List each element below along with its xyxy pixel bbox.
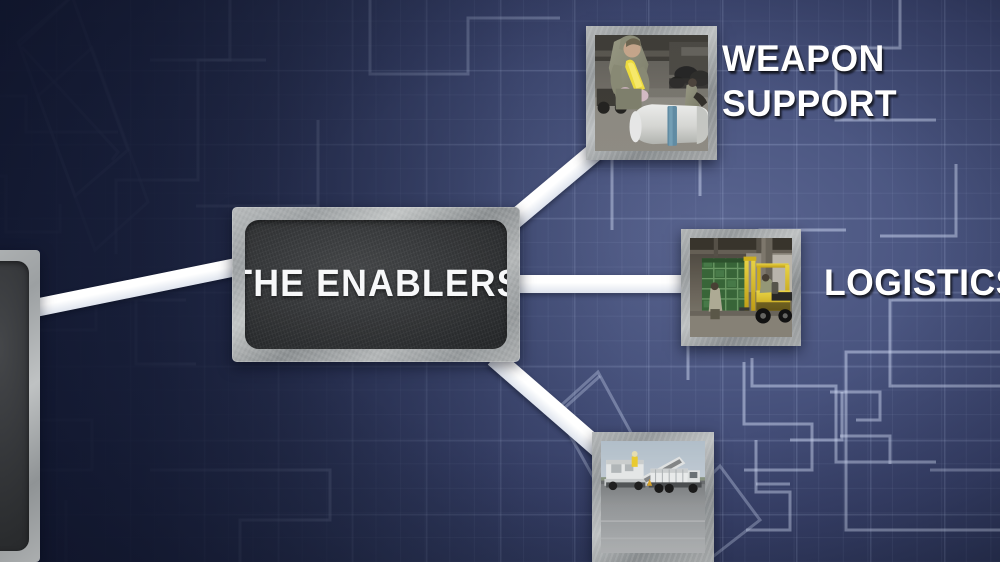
offscreen-panel-left[interactable] (0, 250, 40, 562)
slide-canvas: THE ENABLERS WEAPON SUPPORT LOGISTICS (0, 0, 1000, 562)
photo-civil-engineering[interactable] (592, 432, 714, 562)
the-enablers-panel[interactable]: THE ENABLERS (232, 207, 520, 362)
offscreen-panel-left-inner (0, 261, 29, 551)
photo-weapon-support-image (595, 35, 708, 151)
connector-to-logistics (508, 275, 698, 293)
photo-logistics-image (690, 238, 792, 337)
photo-logistics[interactable] (681, 229, 801, 346)
the-enablers-title: THE ENABLERS (245, 263, 507, 306)
photo-civil-engineering-image (601, 441, 705, 553)
the-enablers-panel-inner: THE ENABLERS (245, 220, 507, 349)
label-weapon-support-line1: WEAPON (722, 36, 897, 81)
label-weapon-support-line2: SUPPORT (722, 81, 897, 126)
label-logistics-line1: LOGISTICS (824, 260, 1000, 305)
label-logistics: LOGISTICS (824, 260, 1000, 305)
photo-weapon-support[interactable] (586, 26, 717, 160)
label-weapon-support: WEAPON SUPPORT (722, 36, 897, 126)
